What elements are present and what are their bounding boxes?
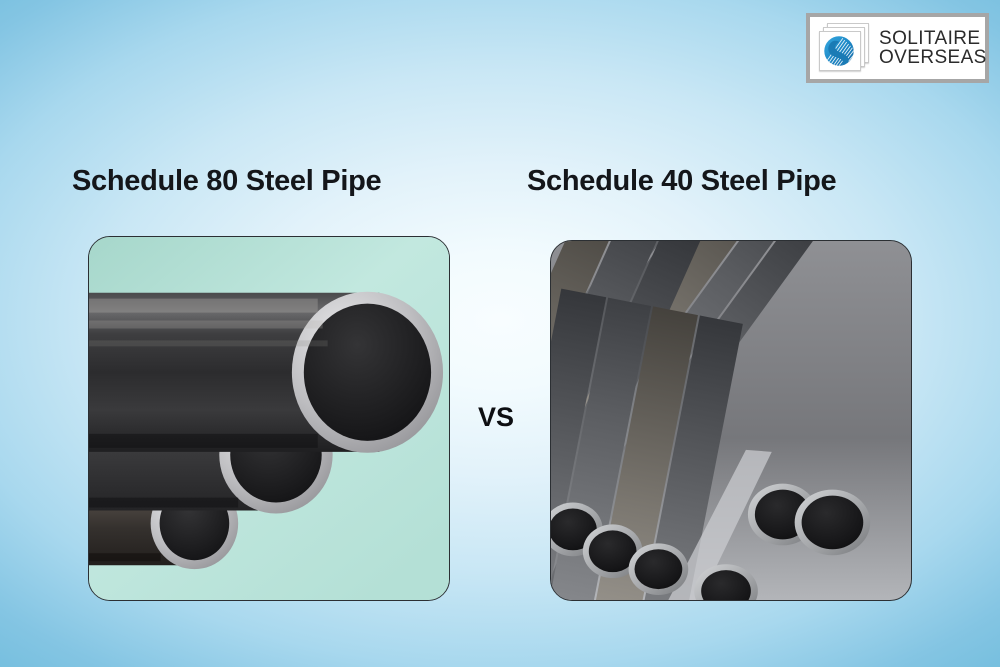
versus-label: VS <box>478 402 514 433</box>
logo-wordmark: SOLITAIRE OVERSEAS <box>879 29 987 68</box>
comparison-infographic: SOLITAIRE OVERSEAS Schedule 80 Steel Pip… <box>0 0 1000 667</box>
logo-line-1: SOLITAIRE <box>879 29 987 48</box>
stacked-cards-swirl-icon <box>823 35 855 67</box>
company-logo[interactable]: SOLITAIRE OVERSEAS <box>806 13 989 83</box>
schedule-40-pipes-photo <box>551 241 911 600</box>
pipe-large <box>89 292 443 453</box>
right-image-panel <box>550 240 912 601</box>
logo-line-2: OVERSEAS <box>879 48 987 67</box>
logo-emblem-group <box>817 23 871 73</box>
right-panel-heading: Schedule 40 Steel Pipe <box>527 165 836 198</box>
schedule-80-pipes-photo <box>89 237 449 600</box>
left-image-panel <box>88 236 450 601</box>
left-panel-heading: Schedule 80 Steel Pipe <box>72 165 381 198</box>
